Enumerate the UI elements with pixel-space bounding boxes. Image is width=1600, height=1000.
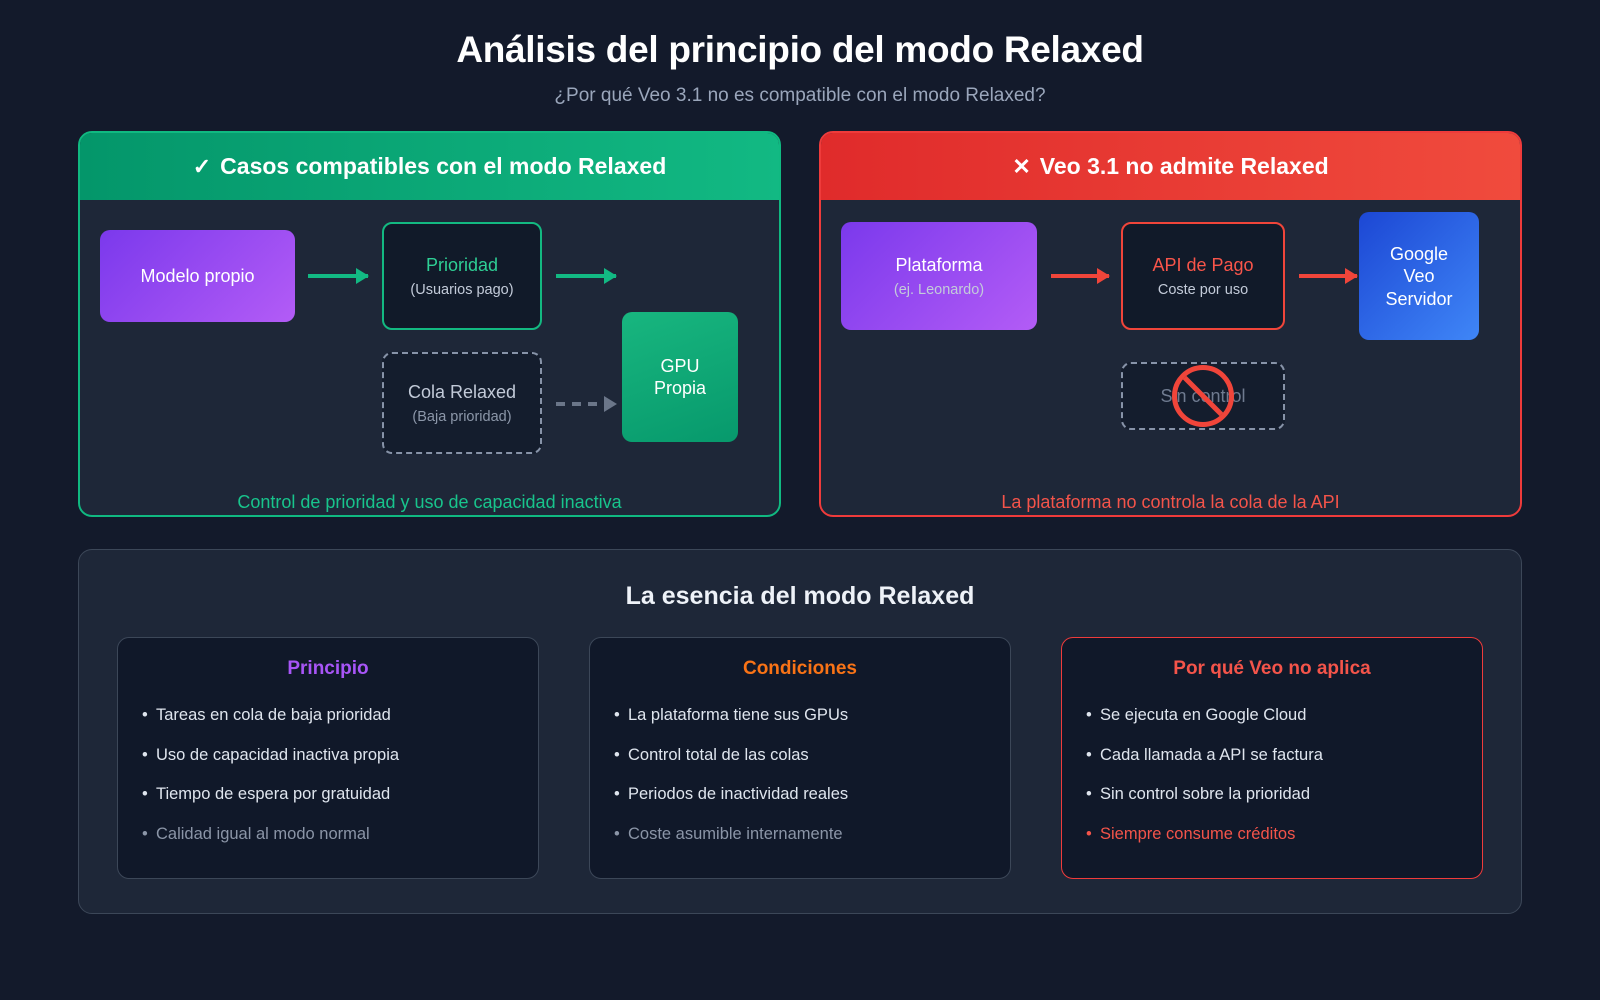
comparison-panels: ✓ Casos compatibles con el modo Relaxed … (0, 107, 1600, 517)
card-condiciones-heading: Condiciones (614, 658, 986, 680)
panel-compatible-header: ✓ Casos compatibles con el modo Relaxed (80, 133, 779, 200)
list-item: Cada llamada a API se factura (1086, 736, 1458, 775)
essence-title: La esencia del modo Relaxed (117, 582, 1483, 611)
card-principio-heading: Principio (142, 658, 514, 680)
list-item: La plataforma tiene sus GPUs (614, 696, 986, 735)
panel-compatible-body: Modelo propio Prioridad (Usuarios pago) … (80, 200, 779, 515)
card-veo-heading: Por qué Veo no aplica (1086, 658, 1458, 680)
list-item: Control total de las colas (614, 736, 986, 775)
card-principio-list: Tareas en cola de baja prioridad Uso de … (142, 696, 514, 854)
card-principio: Principio Tareas en cola de baja priorid… (117, 637, 539, 879)
node-api-de-pago: API de Pago Coste por uso (1121, 222, 1285, 330)
arrow-source-to-primary (308, 274, 368, 278)
page-subtitle: ¿Por qué Veo 3.1 no es compatible con el… (0, 85, 1600, 107)
list-item: Siempre consume créditos (1086, 815, 1458, 854)
card-condiciones: Condiciones La plataforma tiene sus GPUs… (589, 637, 1011, 879)
list-item: Coste asumible internamente (614, 815, 986, 854)
page-title: Análisis del principio del modo Relaxed (0, 28, 1600, 72)
card-condiciones-list: La plataforma tiene sus GPUs Control tot… (614, 696, 986, 854)
essence-cards: Principio Tareas en cola de baja priorid… (117, 637, 1483, 879)
list-item: Tiempo de espera por gratuidad (142, 775, 514, 814)
panel-compatible: ✓ Casos compatibles con el modo Relaxed … (78, 131, 781, 517)
arrow-secondary-to-target (556, 402, 616, 406)
panel-incompatible-title: Veo 3.1 no admite Relaxed (1040, 153, 1329, 180)
card-por-que-veo-no-aplica: Por qué Veo no aplica Se ejecuta en Goog… (1061, 637, 1483, 879)
infographic-root: Análisis del principio del modo Relaxed … (0, 0, 1600, 1000)
list-item: Sin control sobre la prioridad (1086, 775, 1458, 814)
node-plataforma: Plataforma (ej. Leonardo) (841, 222, 1037, 330)
panel-incompatible-note: La plataforma no controla la cola de la … (821, 492, 1520, 517)
node-cola-relaxed: Cola Relaxed (Baja prioridad) (382, 352, 542, 454)
page-header: Análisis del principio del modo Relaxed … (0, 0, 1600, 107)
panel-incompatible-header: ✕ Veo 3.1 no admite Relaxed (821, 133, 1520, 200)
arrow-plataforma-to-api (1051, 274, 1109, 278)
panel-incompatible: ✕ Veo 3.1 no admite Relaxed Plataforma (… (819, 131, 1522, 517)
list-item: Tareas en cola de baja prioridad (142, 696, 514, 735)
prohibition-icon (1172, 365, 1234, 427)
cross-icon: ✕ (1012, 154, 1030, 180)
card-veo-list: Se ejecuta en Google Cloud Cada llamada … (1086, 696, 1458, 854)
node-modelo-propio: Modelo propio (100, 230, 295, 322)
node-google-veo-servidor: Google Veo Servidor (1359, 212, 1479, 340)
arrow-primary-to-target (556, 274, 616, 278)
node-prioridad: Prioridad (Usuarios pago) (382, 222, 542, 330)
panel-incompatible-body: Plataforma (ej. Leonardo) API de Pago Co… (821, 200, 1520, 515)
list-item: Se ejecuta en Google Cloud (1086, 696, 1458, 735)
check-icon: ✓ (193, 154, 211, 180)
node-gpu-propia: GPU Propia (622, 312, 738, 442)
list-item: Calidad igual al modo normal (142, 815, 514, 854)
panel-compatible-note: Control de prioridad y uso de capacidad … (80, 492, 779, 517)
list-item: Uso de capacidad inactiva propia (142, 736, 514, 775)
list-item: Periodos de inactividad reales (614, 775, 986, 814)
arrow-api-to-google (1299, 274, 1357, 278)
panel-compatible-title: Casos compatibles con el modo Relaxed (220, 153, 666, 180)
essence-section: La esencia del modo Relaxed Principio Ta… (78, 549, 1522, 914)
